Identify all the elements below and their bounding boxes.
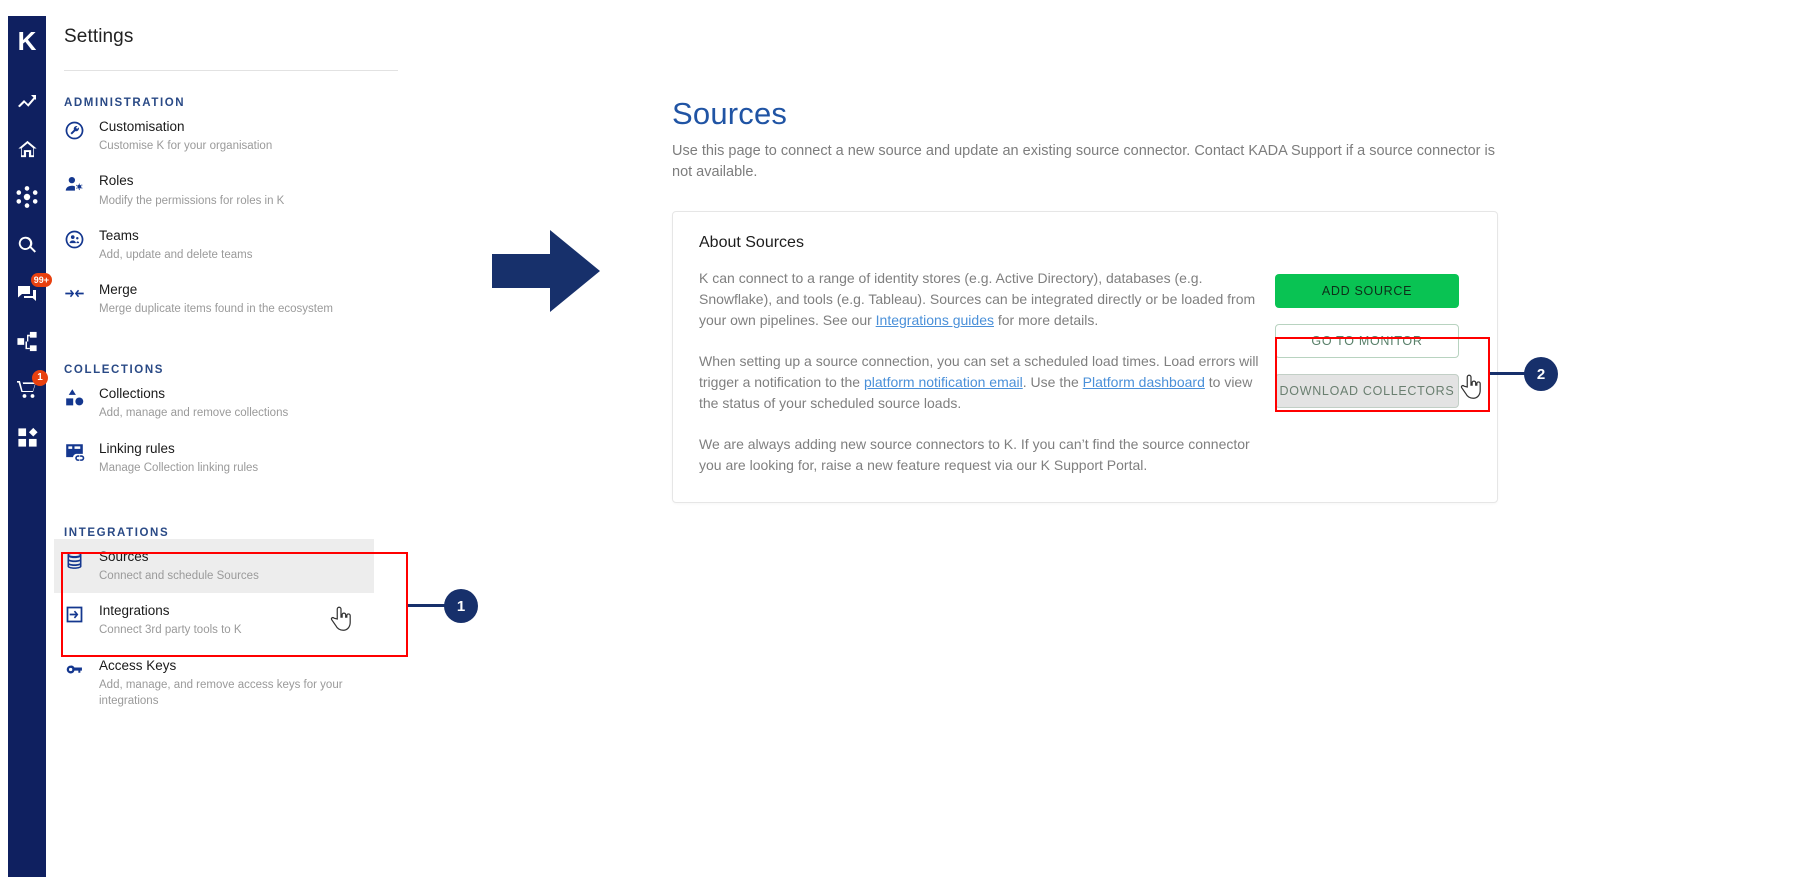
section-heading-integrations: INTEGRATIONS xyxy=(64,527,414,539)
teams-circle-icon xyxy=(64,227,86,250)
screenshot-stage: K 99+ 1 xyxy=(0,0,1798,877)
sidebar-item-roles[interactable]: Roles Modify the permissions for roles i… xyxy=(54,163,374,217)
sidebar-item-sublabel: Customise K for your organisation xyxy=(99,138,272,154)
integrations-guides-link[interactable]: Integrations guides xyxy=(876,312,994,328)
page-title: Settings xyxy=(64,26,414,48)
home-icon[interactable] xyxy=(14,136,40,162)
sidebar-item-label: Access Keys xyxy=(99,657,364,675)
p2-text-b: . Use the xyxy=(1023,374,1083,390)
page-title: Sources xyxy=(672,96,1772,132)
person-gear-icon xyxy=(64,172,86,195)
sidebar-item-customisation[interactable]: Customisation Customise K for your organ… xyxy=(54,109,374,163)
settings-panel: K 99+ 1 xyxy=(0,0,448,877)
hierarchy-icon[interactable] xyxy=(14,328,40,354)
sidebar-item-sublabel: Add, manage and remove collections xyxy=(99,405,288,421)
network-nodes-icon[interactable] xyxy=(14,184,40,210)
sidebar-item-collections[interactable]: Collections Add, manage and remove colle… xyxy=(54,376,374,430)
sidebar-item-sources[interactable]: Sources Connect and schedule Sources xyxy=(54,539,374,593)
transition-arrow-icon xyxy=(492,228,602,314)
sidebar-item-label: Integrations xyxy=(99,602,242,620)
sidebar-item-label: Customisation xyxy=(99,118,272,136)
sidebar-item-integrations[interactable]: Integrations Connect 3rd party tools to … xyxy=(54,593,374,647)
chat-icon[interactable]: 99+ xyxy=(14,280,40,306)
sidebar-item-label: Linking rules xyxy=(99,440,258,458)
settings-content: Settings ADMINISTRATION Customisation Cu… xyxy=(64,26,414,718)
chat-badge: 99+ xyxy=(31,273,52,287)
apps-grid-icon[interactable] xyxy=(14,424,40,450)
paragraph-2: When setting up a source connection, you… xyxy=(699,351,1259,414)
sidebar-item-sublabel: Add, update and delete teams xyxy=(99,247,252,263)
integration-arrow-icon xyxy=(64,602,86,625)
callout-badge-2: 2 xyxy=(1524,357,1558,391)
sidebar-item-access-keys[interactable]: Access Keys Add, manage, and remove acce… xyxy=(54,648,374,718)
cart-badge: 1 xyxy=(32,370,48,386)
database-icon xyxy=(64,548,86,571)
section-heading-collections: COLLECTIONS xyxy=(64,364,414,376)
sources-content: Sources Use this page to connect a new s… xyxy=(672,96,1772,503)
search-icon[interactable] xyxy=(14,232,40,258)
platform-dashboard-link[interactable]: Platform dashboard xyxy=(1083,374,1205,390)
download-collectors-button[interactable]: DOWNLOAD COLLECTORS xyxy=(1275,374,1459,408)
card-action-buttons: ADD SOURCE GO TO MONITOR DOWNLOAD COLLEC… xyxy=(1275,268,1459,476)
page-intro: Use this page to connect a new source an… xyxy=(672,141,1502,183)
section-heading-administration: ADMINISTRATION xyxy=(64,97,414,109)
left-nav-rail[interactable]: K 99+ 1 xyxy=(8,16,46,877)
sidebar-item-sublabel: Connect 3rd party tools to K xyxy=(99,622,242,638)
sidebar-item-sublabel: Connect and schedule Sources xyxy=(99,568,259,584)
trend-up-icon[interactable] xyxy=(14,88,40,114)
sidebar-item-label: Roles xyxy=(99,172,284,190)
title-divider xyxy=(64,70,398,71)
sidebar-item-linking-rules[interactable]: Linking rules Manage Collection linking … xyxy=(54,431,374,485)
sidebar-item-label: Collections xyxy=(99,385,288,403)
card-body-text: K can connect to a range of identity sto… xyxy=(699,268,1259,476)
sidebar-item-teams[interactable]: Teams Add, update and delete teams xyxy=(54,218,374,272)
about-sources-card: About Sources K can connect to a range o… xyxy=(672,211,1498,503)
link-rules-icon xyxy=(64,440,86,463)
cart-icon[interactable]: 1 xyxy=(14,376,40,402)
key-icon xyxy=(64,657,86,680)
sidebar-item-merge[interactable]: Merge Merge duplicate items found in the… xyxy=(54,272,374,326)
platform-notification-email-link[interactable]: platform notification email xyxy=(864,374,1023,390)
sidebar-item-label: Merge xyxy=(99,281,333,299)
sidebar-item-sublabel: Modify the permissions for roles in K xyxy=(99,193,284,209)
sources-page: Sources Use this page to connect a new s… xyxy=(600,38,1798,838)
sidebar-item-label: Teams xyxy=(99,227,252,245)
merge-arrows-icon xyxy=(64,281,86,304)
wrench-circle-icon xyxy=(64,118,86,141)
sidebar-item-sublabel: Merge duplicate items found in the ecosy… xyxy=(99,301,333,317)
paragraph-1: K can connect to a range of identity sto… xyxy=(699,268,1259,331)
sidebar-item-sublabel: Manage Collection linking rules xyxy=(99,460,258,476)
callout-leader-2 xyxy=(1490,372,1526,375)
add-source-button[interactable]: ADD SOURCE xyxy=(1275,274,1459,308)
app-logo[interactable]: K xyxy=(18,28,37,54)
sidebar-item-sublabel: Add, manage, and remove access keys for … xyxy=(99,677,364,709)
card-heading: About Sources xyxy=(699,234,1471,252)
paragraph-3: We are always adding new source connecto… xyxy=(699,434,1259,476)
callout-leader-1 xyxy=(408,604,448,607)
sidebar-item-label: Sources xyxy=(99,548,259,566)
p1-text-b: for more details. xyxy=(994,312,1098,328)
callout-badge-1: 1 xyxy=(444,589,478,623)
go-to-monitor-button[interactable]: GO TO MONITOR xyxy=(1275,324,1459,358)
shapes-icon xyxy=(64,385,86,408)
